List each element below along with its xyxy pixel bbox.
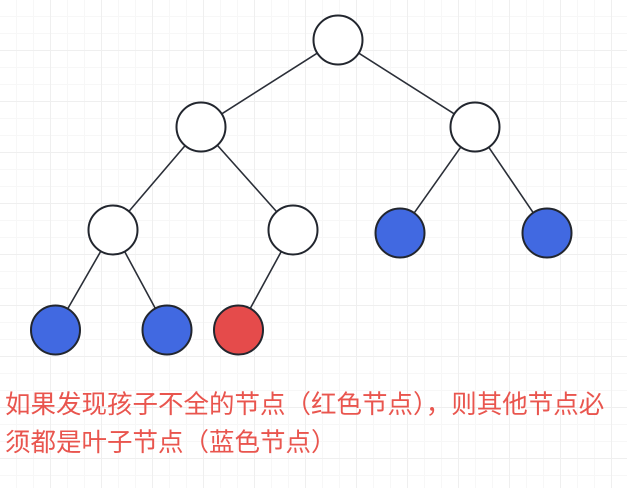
tree-edge-n-r-to-n-rr [488, 146, 534, 213]
tree-edge-root-to-n-l [221, 53, 318, 115]
tree-node-n-l[interactable] [177, 103, 226, 152]
node-circle-n-rl[interactable] [376, 209, 425, 258]
tree-node-n-lrl[interactable] [214, 306, 263, 355]
node-circle-n-lll[interactable] [31, 306, 80, 355]
node-circle-root[interactable] [314, 16, 363, 65]
tree-node-root[interactable] [314, 16, 363, 65]
tree-edge-n-l-to-n-lr [217, 145, 278, 213]
node-circle-n-lrl[interactable] [214, 306, 263, 355]
node-circle-n-l[interactable] [177, 103, 226, 152]
tree-node-n-llr[interactable] [143, 306, 192, 355]
node-circle-n-r[interactable] [451, 103, 500, 152]
tree-edge-n-lr-to-n-lrl [250, 251, 282, 310]
tree-edge-n-l-to-n-ll [128, 145, 185, 212]
tree-edge-root-to-n-r [358, 53, 455, 115]
tree-edge-n-ll-to-n-lll [67, 250, 101, 309]
tree-node-n-ll[interactable] [89, 206, 138, 255]
tree-edge-n-r-to-n-rl [414, 146, 462, 214]
tree-node-n-lll[interactable] [31, 306, 80, 355]
node-circle-n-ll[interactable] [89, 206, 138, 255]
node-circle-n-lr[interactable] [269, 206, 318, 255]
tree-edge-n-ll-to-n-llr [124, 251, 156, 310]
tree-nodes-group [31, 16, 572, 355]
tree-node-n-r[interactable] [451, 103, 500, 152]
diagram-canvas: 如果发现孩子不全的节点（红色节点），则其他节点必须都是叶子节点（蓝色节点） [0, 0, 627, 488]
tree-node-n-lr[interactable] [269, 206, 318, 255]
tree-node-n-rr[interactable] [523, 209, 572, 258]
node-circle-n-llr[interactable] [143, 306, 192, 355]
node-circle-n-rr[interactable] [523, 209, 572, 258]
tree-node-n-rl[interactable] [376, 209, 425, 258]
caption-text: 如果发现孩子不全的节点（红色节点），则其他节点必须都是叶子节点（蓝色节点） [5, 386, 627, 462]
tree-edges-group [67, 53, 534, 310]
